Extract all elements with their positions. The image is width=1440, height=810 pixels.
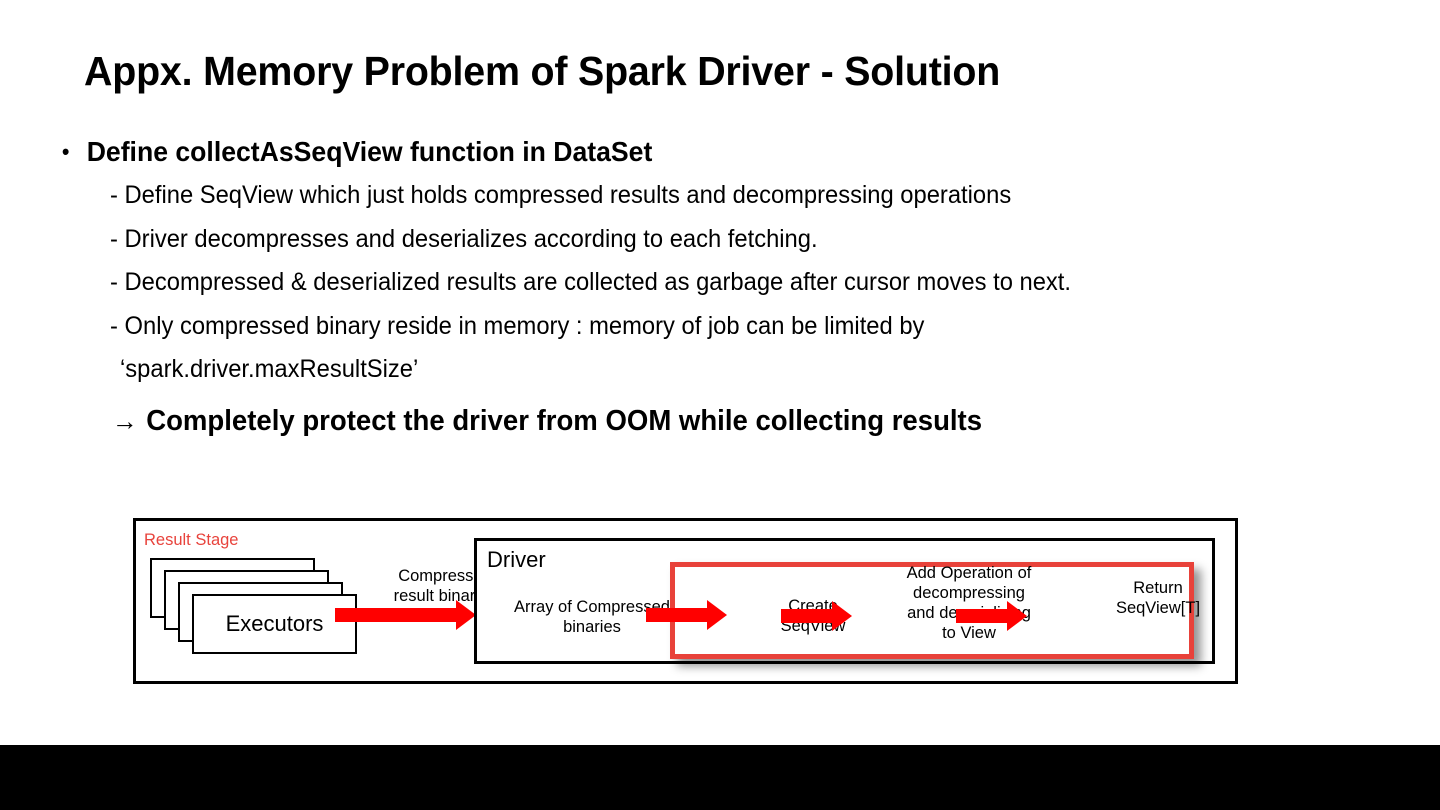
sub-line-3: - Decompressed & deserialized results ar… [110, 261, 1374, 305]
step-add-line-2: decompressing [875, 583, 1063, 603]
step-return-seqview: Return SeqView[T] [1098, 578, 1218, 618]
sub-line-1: - Define SeqView which just holds compre… [110, 174, 1374, 218]
slide-body: •Define collectAsSeqView function in Dat… [0, 130, 1440, 444]
arrow-add-to-return-icon [956, 601, 1027, 631]
sub-line-4: - Only compressed binary reside in memor… [110, 305, 1374, 349]
executor-box-front: Executors [192, 594, 357, 654]
executors-stack: Executors [150, 558, 365, 664]
sub-line-2: - Driver decompresses and deserializes a… [110, 218, 1374, 262]
slide-root: Appx. Memory Problem of Spark Driver - S… [0, 0, 1440, 810]
step-return-line-1: Return [1098, 578, 1218, 598]
step-return-line-2: SeqView[T] [1098, 598, 1218, 618]
bullet-primary-label: Define collectAsSeqView function in Data… [87, 136, 653, 167]
arrow-right-icon: → [112, 406, 146, 436]
conclusion-line: →Completely protect the driver from OOM … [112, 398, 1374, 444]
page-title: Appx. Memory Problem of Spark Driver - S… [84, 44, 1313, 98]
arrow-array-to-create-icon [646, 600, 727, 630]
driver-label: Driver [487, 547, 546, 573]
footer-bar: SPARK+AI SUMMIT 2019 42 [0, 745, 1440, 810]
architecture-diagram: Result Stage Executors Compressed result… [133, 518, 1238, 684]
result-stage-label: Result Stage [144, 531, 238, 550]
arrow-create-to-add-icon [781, 601, 852, 631]
bullet-item-primary: •Define collectAsSeqView function in Dat… [62, 130, 1371, 174]
step-add-line-1: Add Operation of [875, 563, 1063, 583]
bullet-marker-icon: • [62, 130, 87, 174]
sub-line-5: ‘spark.driver.maxResultSize’ [120, 348, 1374, 392]
arrow-executors-to-driver-icon [335, 600, 476, 630]
conclusion-label: Completely protect the driver from OOM w… [146, 405, 982, 437]
executors-label: Executors [226, 611, 324, 637]
